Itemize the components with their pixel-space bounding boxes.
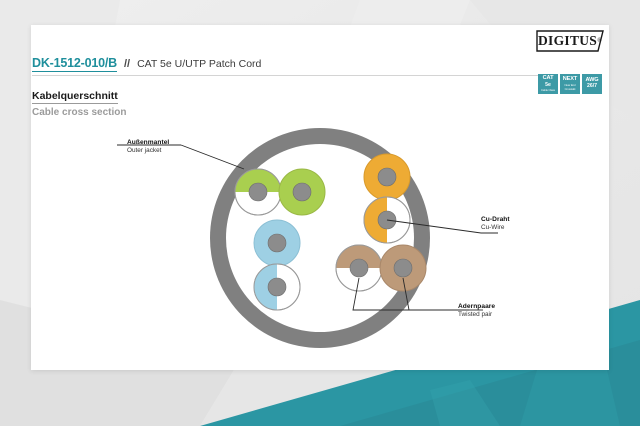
digitus-logo: DIGITUS® [536,30,604,52]
wire-brown-white [336,245,382,291]
twisted-pair-callout: Adernpaare Twisted pair [458,303,495,320]
wire-green-white [235,169,281,215]
logo-word: DIGITUS [538,33,597,49]
spec-badges: CAT 5e Cable Class NEXT Near End Crossta… [538,74,602,94]
screenshot-root: DIGITUS® DK-1512-010/B // CAT 5e U/UTP P… [0,0,640,426]
article-number: DK-1512-010/B [32,57,117,72]
header-divider [32,75,548,76]
header-separator: // [124,58,130,72]
next-badge: NEXT Near End Crosstalk [560,74,580,94]
cat5e-badge-line3: Cable Class [541,89,555,92]
next-badge-line3: Crosstalk [565,88,576,91]
cu-wire-callout: Cu-Draht Cu-Wire [481,216,510,233]
section-title-de: Kabelquerschnitt [32,90,118,104]
awg-badge-line2: 26/7 [587,84,597,89]
cat5e-badge: CAT 5e Cable Class [538,74,558,94]
article-header: DK-1512-010/B // CAT 5e U/UTP Patch Cord [32,54,548,72]
awg-badge: AWG 26/7 [582,74,602,94]
logo-registered-mark: ® [597,38,602,44]
outer-jacket-label-en: Outer jacket [127,147,169,156]
outer-jacket-callout: Außenmantel Outer jacket [127,139,169,156]
wire-blue-white [254,264,300,310]
wire-brown [380,245,426,291]
twisted-pair-label-de: Adernpaare [458,303,495,311]
cat5e-badge-line2: 5e [545,83,551,88]
cu-wire-label-en: Cu-Wire [481,224,510,233]
article-description: CAT 5e U/UTP Patch Cord [137,58,261,72]
cu-wire-label-de: Cu-Draht [481,216,510,224]
outer-jacket-label-de: Außenmantel [127,139,169,147]
wire-blue [254,220,300,266]
wire-green [279,169,325,215]
digitus-logo-text: DIGITUS® [536,30,604,52]
cable-cross-section-diagram [31,110,609,365]
wire-orange [364,154,410,200]
leader-outer-jacket-d [181,145,244,169]
twisted-pair-label-en: Twisted pair [458,311,495,320]
